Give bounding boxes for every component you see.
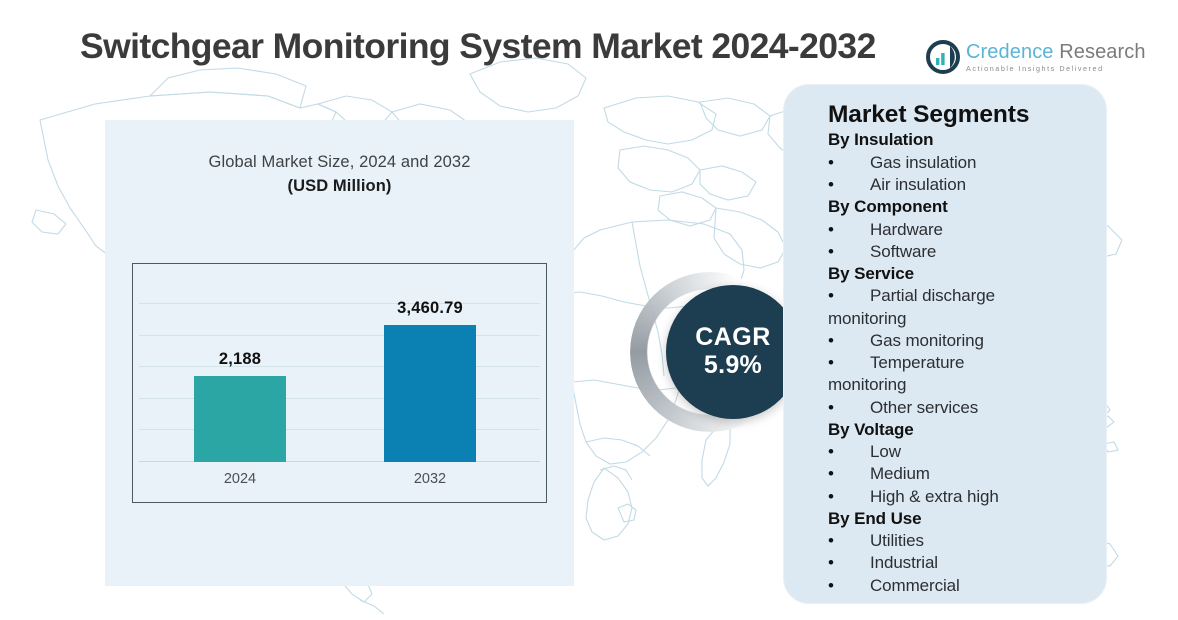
segment-item-label: Air insulation (870, 174, 966, 196)
segment-item[interactable]: •Medium (828, 463, 1092, 485)
segment-item-label: Temperature (870, 352, 964, 374)
segment-item[interactable]: •Other services (828, 397, 1092, 419)
bar-value-label: 3,460.79 (397, 299, 463, 318)
bullet-icon: • (828, 575, 870, 597)
segment-item[interactable]: •Air insulation (828, 174, 1092, 196)
bar-rect (384, 325, 476, 462)
bullet-icon: • (828, 530, 870, 552)
segment-item-continuation: monitoring (828, 374, 1092, 396)
segment-item[interactable]: •Temperature (828, 352, 1092, 374)
chart-panel: Global Market Size, 2024 and 2032 (USD M… (105, 120, 574, 586)
segment-item-label: Other services (870, 397, 978, 419)
segment-heading: By End Use (828, 508, 1092, 530)
segment-item[interactable]: •Partial discharge (828, 285, 1092, 307)
bar-category-label: 2024 (224, 471, 256, 487)
segment-item[interactable]: •Low (828, 441, 1092, 463)
segment-item[interactable]: •High & extra high (828, 486, 1092, 508)
chart-subtitle: (USD Million) (105, 177, 574, 196)
cagr-value: 5.9% (704, 351, 762, 381)
segment-item-label: Commercial (870, 575, 960, 597)
bullet-icon: • (828, 486, 870, 508)
segment-item-label: Gas monitoring (870, 330, 984, 352)
segment-heading: By Voltage (828, 419, 1092, 441)
bullet-icon: • (828, 241, 870, 263)
segment-item-continuation: monitoring (828, 308, 1092, 330)
segment-item[interactable]: •Industrial (828, 552, 1092, 574)
segment-heading: By Component (828, 196, 1092, 218)
segment-heading: By Service (828, 263, 1092, 285)
bullet-icon: • (828, 219, 870, 241)
brand-tagline: Actionable Insights Delivered (966, 65, 1146, 72)
brand-name-research: Research (1059, 41, 1145, 63)
infographic-page: Switchgear Monitoring System Market 2024… (0, 0, 1178, 620)
bullet-icon: • (828, 552, 870, 574)
market-segments-panel: Market Segments By Insulation•Gas insula… (783, 84, 1107, 604)
header: Switchgear Monitoring System Market 2024… (0, 0, 1178, 92)
page-title: Switchgear Monitoring System Market 2024… (80, 26, 876, 67)
bullet-icon: • (828, 285, 870, 307)
segment-item[interactable]: •Commercial (828, 575, 1092, 597)
gridline (139, 335, 540, 336)
segment-item[interactable]: •Software (828, 241, 1092, 263)
brand-name-credence: Credence (966, 41, 1054, 63)
segment-item-label: Gas insulation (870, 152, 976, 174)
cagr-label: CAGR (695, 324, 771, 351)
segment-item-label-continued: monitoring (828, 308, 906, 330)
plot-inner: 2,18820243,460.792032 (133, 264, 546, 502)
segment-item[interactable]: •Gas insulation (828, 152, 1092, 174)
cagr-circle: CAGR 5.9% (666, 285, 800, 419)
chart-title: Global Market Size, 2024 and 2032 (105, 153, 574, 172)
bullet-icon: • (828, 152, 870, 174)
bar-group: 3,460.792032 (384, 299, 476, 462)
bullet-icon: • (828, 330, 870, 352)
bar-category-label: 2032 (414, 471, 446, 487)
segment-item-label: Medium (870, 463, 930, 485)
bullet-icon: • (828, 397, 870, 419)
bar-chart-logo-icon (926, 40, 960, 74)
segment-item-label: Low (870, 441, 901, 463)
segments-title: Market Segments (828, 101, 1092, 128)
brand-name: Credence Research (966, 42, 1146, 62)
segment-item-label: Industrial (870, 552, 938, 574)
segment-item-label: High & extra high (870, 486, 999, 508)
bar-chart-plot: 2,18820243,460.792032 (132, 263, 547, 503)
segment-item[interactable]: •Utilities (828, 530, 1092, 552)
bar-group: 2,1882024 (194, 350, 286, 462)
bullet-icon: • (828, 174, 870, 196)
bar-rect (194, 376, 286, 462)
segment-item-label-continued: monitoring (828, 374, 906, 396)
segment-item[interactable]: •Gas monitoring (828, 330, 1092, 352)
bullet-icon: • (828, 352, 870, 374)
bar-value-label: 2,188 (219, 350, 261, 369)
segment-item-label: Hardware (870, 219, 943, 241)
brand-text: Credence Research Actionable Insights De… (966, 42, 1146, 72)
segment-item-label: Utilities (870, 530, 924, 552)
brand-logo: Credence Research Actionable Insights De… (926, 38, 1146, 76)
bullet-icon: • (828, 441, 870, 463)
segment-item-label: Partial discharge (870, 285, 995, 307)
segments-list: By Insulation•Gas insulation•Air insulat… (800, 129, 1092, 597)
segment-item[interactable]: •Hardware (828, 219, 1092, 241)
bullet-icon: • (828, 463, 870, 485)
segment-item-label: Software (870, 241, 936, 263)
segment-heading: By Insulation (828, 129, 1092, 151)
gridline (139, 303, 540, 304)
